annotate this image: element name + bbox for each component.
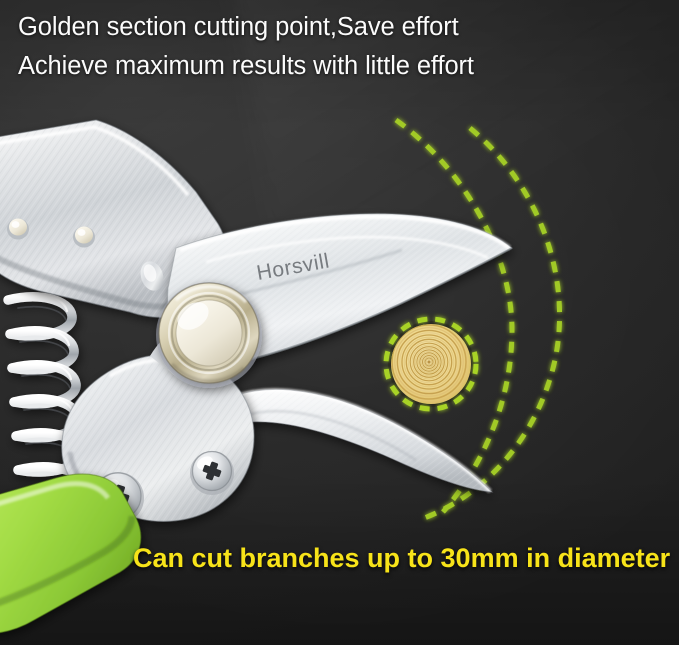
handle-rivet-left bbox=[7, 219, 29, 240]
headline-line-2: Achieve maximum results with little effo… bbox=[18, 47, 658, 86]
wood-cross-section bbox=[386, 319, 476, 409]
bottom-caption: Can cut branches up to 30mm in diameter bbox=[133, 541, 670, 575]
headline-block: Golden section cutting point,Save effort… bbox=[18, 8, 658, 86]
screw-upper bbox=[190, 451, 234, 495]
grip-handle bbox=[0, 474, 141, 633]
headline-line-1: Golden section cutting point,Save effort bbox=[18, 8, 658, 47]
pivot-bolt bbox=[156, 282, 262, 388]
product-marketing-image: Horsvill bbox=[0, 0, 679, 645]
handle-rivet-right bbox=[73, 227, 95, 248]
